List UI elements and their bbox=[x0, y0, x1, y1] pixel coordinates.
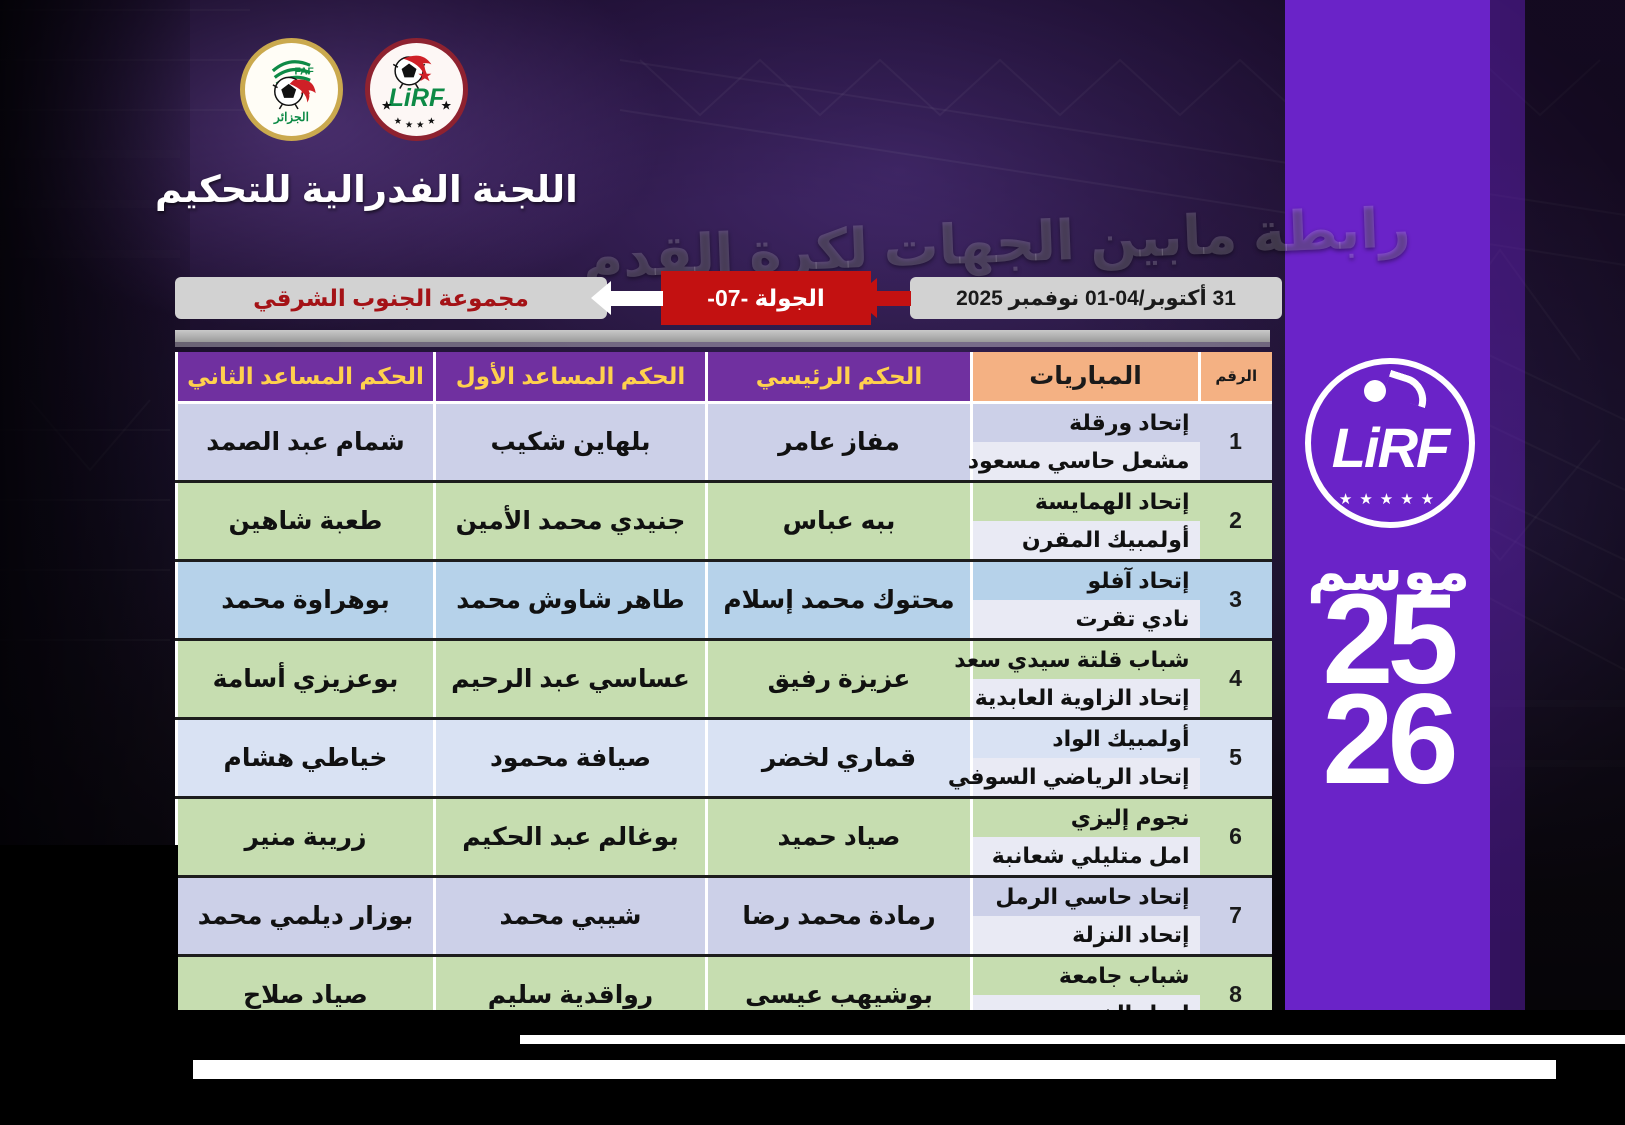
cell-main-referee: عزيزة رفيق bbox=[707, 639, 972, 718]
team-away: إتحاد النزلة bbox=[973, 916, 1200, 954]
banner-round: الجولة -07- bbox=[661, 271, 871, 325]
cell-assistant-referee-1: صيافة محمود bbox=[435, 718, 707, 797]
cell-assistant-referee-1: عساسي عبد الرحيم bbox=[435, 639, 707, 718]
cell-assistant-referee-2: بوزار ديلمي محمد bbox=[177, 876, 435, 955]
svg-text:LiRF: LiRF bbox=[389, 84, 445, 112]
team-home: شباب جامعة bbox=[973, 957, 1200, 995]
lirf-logo-art: LiRF bbox=[370, 43, 463, 136]
cell-match-number: 1 bbox=[1200, 402, 1272, 481]
banner-divider bbox=[175, 330, 1270, 342]
cell-match-number: 4 bbox=[1200, 639, 1272, 718]
table-row: 6نجوم إليزيامل متليلي شعانبةصياد حميدبوغ… bbox=[177, 797, 1272, 876]
logo-group: LiRF bbox=[240, 38, 468, 141]
cell-assistant-referee-1: بلهاين شكيب bbox=[435, 402, 707, 481]
cell-assistant-referee-1: جنيدي محمد الأمين bbox=[435, 481, 707, 560]
side-logo-stars-icon: ★★★★★ bbox=[1311, 490, 1469, 508]
table-row: 2إتحاد الهمايسةأولمبيك المقرنببه عباسجني… bbox=[177, 481, 1272, 560]
cell-assistant-referee-2: خياطي هشام bbox=[177, 718, 435, 797]
cell-match-teams: نجوم إليزيامل متليلي شعانبة bbox=[972, 797, 1200, 876]
team-home: إتحاد حاسي الرمل bbox=[973, 878, 1200, 916]
banner-group: مجموعة الجنوب الشرقي bbox=[175, 277, 607, 319]
banner-strip: 31 أكتوبر/04-01 نوفمبر 2025 الجولة -07- … bbox=[175, 277, 1282, 319]
cell-main-referee: صياد حميد bbox=[707, 797, 972, 876]
banner-white-arrow bbox=[605, 291, 663, 306]
cell-main-referee: ببه عباس bbox=[707, 481, 972, 560]
banner-red-arrow bbox=[871, 291, 911, 306]
cell-assistant-referee-1: طاهر شاوش محمد bbox=[435, 560, 707, 639]
cell-match-number: 3 bbox=[1200, 560, 1272, 639]
team-home: إتحاد ورقلة bbox=[973, 404, 1200, 442]
side-logo-swoosh-icon bbox=[1383, 370, 1433, 408]
cell-main-referee: رمادة محمد رضا bbox=[707, 876, 972, 955]
banner-dates: 31 أكتوبر/04-01 نوفمبر 2025 bbox=[910, 277, 1282, 319]
side-logo-ball-icon bbox=[1364, 380, 1386, 402]
banner-divider-highlight bbox=[175, 342, 1270, 347]
lirf-logo: LiRF bbox=[365, 38, 468, 141]
team-home: إتحاد آفلو bbox=[973, 562, 1200, 600]
svg-text:الجزائر: الجزائر bbox=[273, 110, 309, 125]
cell-assistant-referee-2: بوهراوة محمد bbox=[177, 560, 435, 639]
cell-assistant-referee-2: زريبة منير bbox=[177, 797, 435, 876]
team-away: مشعل حاسي مسعود bbox=[973, 442, 1200, 480]
poster-root: رابطة مابين الجهات لكرة القدم LiRF bbox=[0, 0, 1625, 1125]
cell-match-number: 7 bbox=[1200, 876, 1272, 955]
team-away: امل متليلي شعانبة bbox=[973, 837, 1200, 875]
schedule-table: الرقم المباريات الحكم الرئيسي الحكم المس… bbox=[175, 352, 1272, 1036]
cell-match-teams: أولمبيك الوادإتحاد الرياضي السوفي bbox=[972, 718, 1200, 797]
cell-match-number: 5 bbox=[1200, 718, 1272, 797]
column-header-assistant1: الحكم المساعد الأول bbox=[435, 352, 707, 402]
federation-title: اللجنة الفدرالية للتحكيم bbox=[155, 168, 578, 211]
cell-assistant-referee-1: بوغالم عبد الحكيم bbox=[435, 797, 707, 876]
table-body: 1إتحاد ورقلةمشعل حاسي مسعودمفاز عامربلها… bbox=[177, 402, 1272, 1034]
cell-assistant-referee-2: بوعزيزي أسامة bbox=[177, 639, 435, 718]
cell-match-number: 2 bbox=[1200, 481, 1272, 560]
table-row: 5أولمبيك الوادإتحاد الرياضي السوفيقماري … bbox=[177, 718, 1272, 797]
bottom-white-bar-top bbox=[520, 1035, 1625, 1044]
cell-match-number: 6 bbox=[1200, 797, 1272, 876]
column-header-matches: المباريات bbox=[972, 352, 1200, 402]
side-lirf-logo: LiRF ★★★★★ bbox=[1305, 358, 1475, 528]
cell-assistant-referee-1: شيبي محمد bbox=[435, 876, 707, 955]
team-away: إتحاد الزاوية العابدية bbox=[973, 679, 1200, 717]
table-row: 1إتحاد ورقلةمشعل حاسي مسعودمفاز عامربلها… bbox=[177, 402, 1272, 481]
cell-match-teams: إتحاد الهمايسةأولمبيك المقرن bbox=[972, 481, 1200, 560]
team-home: شباب قلتة سيدي سعد bbox=[973, 641, 1200, 679]
column-header-assistant2: الحكم المساعد الثاني bbox=[177, 352, 435, 402]
cell-assistant-referee-2: طعبة شاهين bbox=[177, 481, 435, 560]
team-away: إتحاد الرياضي السوفي bbox=[973, 758, 1200, 796]
cell-match-teams: إتحاد حاسي الرملإتحاد النزلة bbox=[972, 876, 1200, 955]
svg-text:FAF: FAF bbox=[295, 67, 314, 78]
cell-match-teams: إتحاد ورقلةمشعل حاسي مسعود bbox=[972, 402, 1200, 481]
faf-logo: FAF الجزائر bbox=[240, 38, 343, 141]
cell-main-referee: مفاز عامر bbox=[707, 402, 972, 481]
cell-match-teams: شباب قلتة سيدي سعدإتحاد الزاوية العابدية bbox=[972, 639, 1200, 718]
table-row: 7إتحاد حاسي الرملإتحاد النزلةرمادة محمد … bbox=[177, 876, 1272, 955]
bottom-white-bar-bottom bbox=[193, 1060, 1556, 1079]
column-header-number: الرقم bbox=[1200, 352, 1272, 402]
table-row: 3إتحاد آفلونادي تقرتمحتوك محمد إسلامطاهر… bbox=[177, 560, 1272, 639]
season-year-second: 26 bbox=[1300, 688, 1475, 793]
team-home: نجوم إليزي bbox=[973, 799, 1200, 837]
table-header-row: الرقم المباريات الحكم الرئيسي الحكم المس… bbox=[177, 352, 1272, 402]
cell-main-referee: محتوك محمد إسلام bbox=[707, 560, 972, 639]
faf-logo-art: FAF الجزائر bbox=[245, 43, 338, 136]
cell-main-referee: قماري لخضر bbox=[707, 718, 972, 797]
cell-match-teams: إتحاد آفلونادي تقرت bbox=[972, 560, 1200, 639]
column-header-main-referee: الحكم الرئيسي bbox=[707, 352, 972, 402]
right-accent-band-secondary bbox=[1489, 0, 1525, 1010]
side-logo-text: LiRF bbox=[1332, 415, 1448, 480]
team-home: أولمبيك الواد bbox=[973, 720, 1200, 758]
table-row: 4شباب قلتة سيدي سعدإتحاد الزاوية العابدي… bbox=[177, 639, 1272, 718]
cell-assistant-referee-2: شمام عبد الصمد bbox=[177, 402, 435, 481]
team-away: نادي تقرت bbox=[973, 600, 1200, 638]
team-away: أولمبيك المقرن bbox=[973, 521, 1200, 559]
team-home: إتحاد الهمايسة bbox=[973, 483, 1200, 521]
